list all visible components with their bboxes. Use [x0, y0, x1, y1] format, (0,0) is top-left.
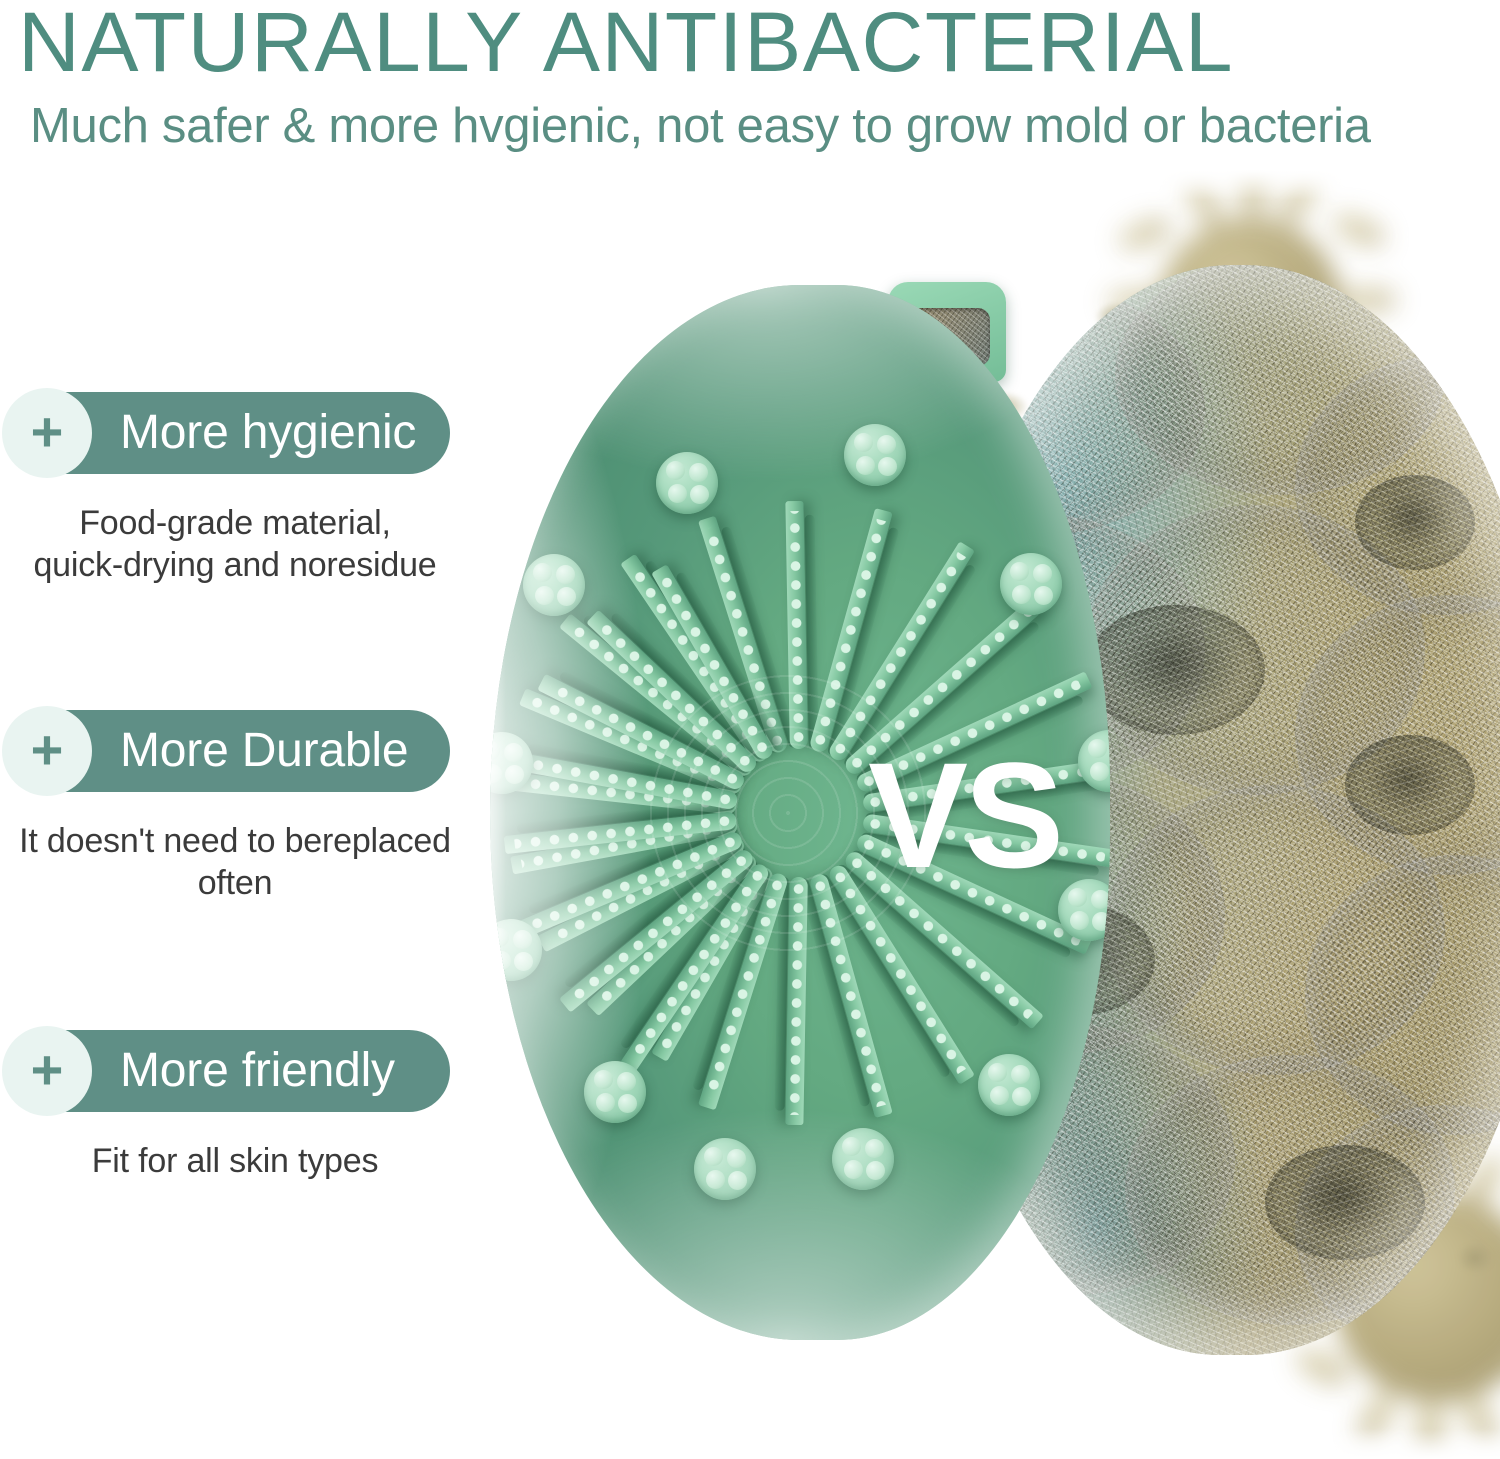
scrubber-nub — [1000, 553, 1062, 615]
scrubber-nub-bump — [596, 1093, 615, 1112]
plus-icon: + — [2, 1026, 92, 1116]
plus-icon: + — [2, 388, 92, 478]
scrubber-nub-bump — [490, 764, 502, 783]
scrubber-nub-bump — [866, 1161, 885, 1180]
plus-glyph: + — [2, 706, 92, 796]
scrubber-nub-bump — [490, 928, 509, 947]
scrubber-nub-bump — [690, 485, 709, 504]
scrubber-nub-bump — [1012, 1087, 1031, 1106]
scrubber-nub-bump — [1092, 912, 1110, 931]
scrubber-nub-bump — [877, 435, 896, 454]
scrubber-nub-bump — [689, 463, 708, 482]
scrubber-nub — [656, 452, 718, 514]
page-title: NATURALLY ANTIBACTERIAL — [18, 0, 1500, 88]
scrubber-nub-bump — [504, 743, 523, 762]
scrubber-nub-bump — [727, 1149, 746, 1168]
scrubber-nub-bump — [666, 461, 685, 480]
scrubber-nub-bump — [878, 457, 897, 476]
product-comparison-image: VS — [470, 170, 1500, 1459]
scrubber-nub-bump — [1011, 1065, 1030, 1084]
plus-glyph: + — [2, 1026, 92, 1116]
feature-description: It doesn't need to bereplaced often — [0, 820, 470, 904]
plus-icon: + — [2, 706, 92, 796]
scrubber-nub-bump — [1068, 888, 1087, 907]
scrubber-nub-bump — [668, 484, 687, 503]
plus-glyph: + — [2, 388, 92, 478]
feature-label: More friendly — [120, 1030, 395, 1112]
scrubber-nub-bump — [535, 586, 554, 605]
scrubber-nub-bump — [1070, 911, 1089, 930]
scrubber-nub-bump — [514, 952, 533, 971]
scrubber-nub-bump — [706, 1170, 725, 1189]
scrubber-nub — [694, 1138, 756, 1200]
scrubber-nub-bump — [728, 1171, 747, 1190]
scrubber-nub — [1058, 879, 1110, 941]
scrubber-nub-bump — [557, 587, 576, 606]
scrubber-nub-bump — [1033, 564, 1052, 583]
feature-description: Food-grade material, quick-drying and no… — [0, 502, 470, 586]
scrubber-nub-bump — [704, 1147, 723, 1166]
feature-label: More Durable — [120, 710, 408, 792]
scrubber-nub-bump — [1090, 762, 1109, 781]
page-subtitle: Much safer & more hvgienic, not easy to … — [30, 98, 1480, 154]
scrubber-nub-bump — [865, 1139, 884, 1158]
scrubber-nub-bump — [854, 433, 873, 452]
scrubber-nub-bump — [594, 1070, 613, 1089]
scrubber-nub-bump — [844, 1160, 863, 1179]
scrubber-nub-bump — [490, 741, 500, 760]
scrubber-nub-bump — [618, 1094, 637, 1113]
scrubber-nub-bump — [1088, 739, 1107, 758]
feature-description: Fit for all skin types — [0, 1140, 470, 1182]
scrubber-nub — [584, 1061, 646, 1123]
scrubber-nub — [978, 1054, 1040, 1116]
scrubber-nub-bump — [617, 1072, 636, 1091]
scrubber-nub-bump — [556, 565, 575, 584]
scrubber-nub-bump — [1091, 890, 1110, 909]
scrubber-nub-bump — [842, 1137, 861, 1156]
scrubber-nub — [832, 1128, 894, 1190]
scrubber-nub-bump — [990, 1086, 1009, 1105]
header-banner: NATURALLY ANTIBACTERIAL Much safer & mor… — [0, 0, 1500, 170]
scrubber-nub-bump — [533, 563, 552, 582]
feature-label: More hygienic — [120, 392, 416, 474]
scrubber-nub-bump — [1010, 562, 1029, 581]
scrubber-nub-bump — [1012, 585, 1031, 604]
vs-label: VS — [868, 740, 1060, 890]
scrubber-nub — [844, 424, 906, 486]
scrubber-nub-bump — [505, 765, 524, 784]
scrubber-nub-bump — [492, 951, 511, 970]
scrubber-nub-bump — [988, 1063, 1007, 1082]
scrubber-nub-bump — [856, 456, 875, 475]
scrubber-nub-bump — [1034, 586, 1053, 605]
scrubber-nub-bump — [513, 930, 532, 949]
